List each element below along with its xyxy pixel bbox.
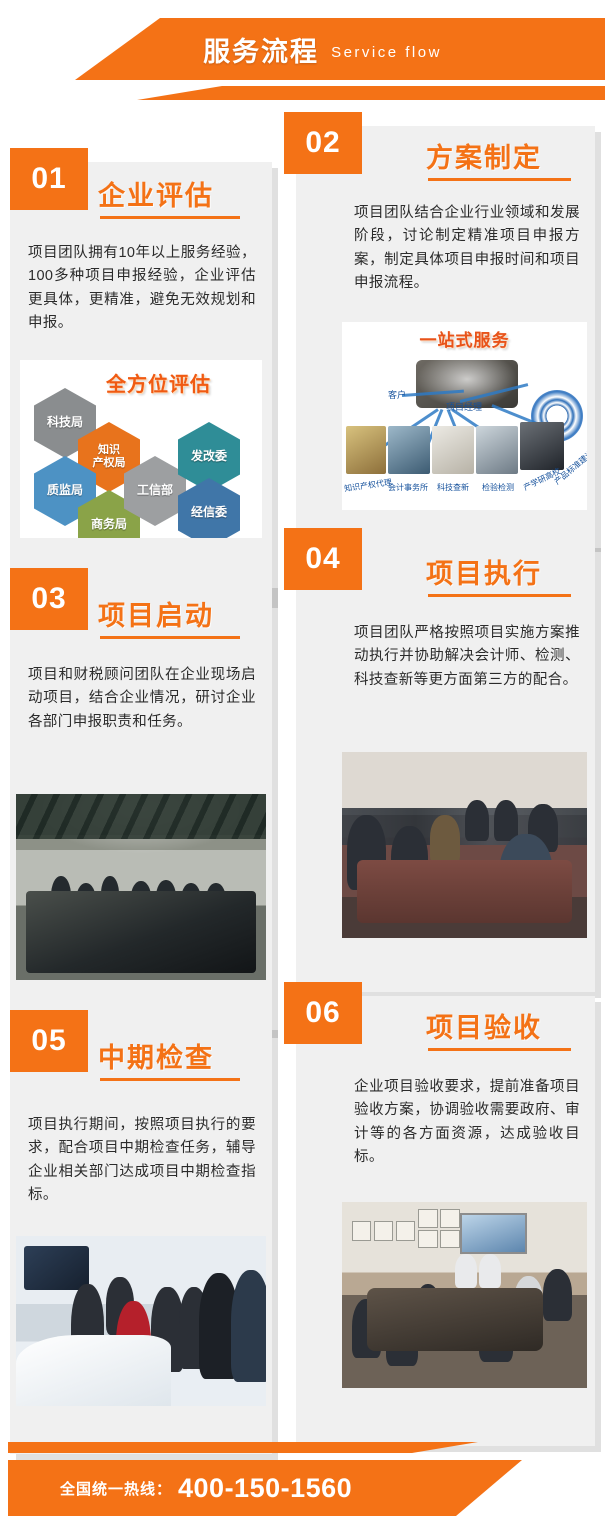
photo-big-conference — [342, 1202, 587, 1388]
title-underline — [428, 594, 571, 597]
card-title: 中期检查 — [98, 1036, 214, 1075]
page-subtitle: Service flow — [331, 44, 442, 61]
photo-figures — [16, 1236, 266, 1406]
card-description: 企业项目验收要求，提前准备项目验收方案，协调验收需要政府、审计等的各方面资源，达… — [354, 1076, 580, 1170]
process-card-06[interactable]: 06 项目验收 企业项目验收要求，提前准备项目验收方案，协调验收需要政府、审计等… — [296, 996, 595, 1446]
card-number-badge: 05 — [10, 1010, 88, 1072]
oss-label-ip-agency: 知识产权代理 — [343, 477, 392, 495]
card-description: 项目团队结合企业行业领域和发展阶段，讨论制定精准项目申报方案，制定具体项目申报时… — [354, 202, 580, 296]
hex-node-label: 质监局 — [47, 484, 83, 498]
oss-center-label: 项目经理 — [446, 400, 482, 413]
hex-node-label: 科技局 — [47, 416, 83, 430]
hotline-group: 全国统一热线： 400-150-1560 — [8, 1460, 605, 1516]
process-card-04[interactable]: 04 项目执行 项目团队严格按照项目实施方案推动执行并协助解决会计师、检测、科技… — [296, 542, 595, 992]
all-round-assessment-diagram: 全方位评估 科技局 知识 产权局 质监局 商务局 工信部 发改委 经信委 — [20, 360, 262, 538]
photo-figures — [342, 752, 587, 938]
hex-node-label: 知识 产权局 — [93, 444, 126, 469]
photo-conference-room — [16, 794, 266, 980]
oss-thumb — [476, 426, 518, 474]
page-footer: 全国统一热线： 400-150-1560 — [0, 1420, 605, 1538]
hotline-phone[interactable]: 400-150-1560 — [178, 1473, 352, 1504]
oss-thumb — [432, 426, 474, 474]
card-title: 方案制定 — [426, 136, 542, 175]
oss-label-accounting: 会计事务所 — [388, 482, 428, 493]
title-underline — [428, 178, 571, 181]
header-accent-stripe — [0, 86, 605, 100]
process-card-03[interactable]: 03 项目启动 项目和财税顾问团队在企业现场启动项目，结合企业情况，研讨企业各部… — [10, 582, 272, 1032]
photo-figures — [342, 1202, 587, 1388]
oss-title: 一站式服务 — [342, 326, 587, 351]
title-underline — [100, 216, 240, 219]
oss-thumb — [346, 426, 386, 474]
card-description: 项目团队严格按照项目实施方案推动执行并协助解决会计师、检测、科技查新等更方面第三… — [354, 622, 580, 692]
oss-client-label: 客户 — [388, 388, 406, 401]
page-title: 服务流程 — [203, 30, 319, 69]
oss-label-novelty-search: 科技查新 — [437, 482, 469, 493]
footer-accent-stripe — [8, 1442, 605, 1453]
oss-thumb — [520, 422, 564, 470]
photo-figures — [16, 794, 266, 980]
hex-node-label: 工信部 — [137, 484, 173, 498]
process-card-05[interactable]: 05 中期检查 项目执行期间，按照项目执行的要求，配合项目中期检查任务，辅导企业… — [10, 1024, 272, 1454]
hex-node-label: 发改委 — [191, 450, 227, 464]
hex-node-jingxin: 经信委 — [178, 478, 240, 538]
photo-showroom-visit — [16, 1236, 266, 1406]
card-description: 项目团队拥有10年以上服务经验，100多种项目申报经验，企业评估更具体，更精准，… — [28, 242, 256, 336]
title-underline — [100, 636, 240, 639]
header-title-group: 服务流程 Service flow — [0, 18, 605, 80]
card-title: 项目启动 — [98, 594, 214, 633]
hex-diagram-title: 全方位评估 — [106, 368, 211, 397]
one-stop-service-diagram: 一站式服务 客户 项目经理 知识产权代理 会计事务所 科技查新 检验检测 产学研… — [342, 322, 587, 510]
hotline-label: 全国统一热线： — [60, 1478, 172, 1499]
card-number-badge: 03 — [10, 568, 88, 630]
hex-node-label: 商务局 — [91, 518, 127, 532]
card-description: 项目执行期间，按照项目执行的要求，配合项目中期检查任务，辅导企业相关部门达成项目… — [28, 1114, 256, 1208]
process-card-01[interactable]: 01 企业评估 项目团队拥有10年以上服务经验，100多种项目申报经验，企业评估… — [10, 162, 272, 602]
oss-thumb — [388, 426, 430, 474]
card-number-badge: 01 — [10, 148, 88, 210]
card-number-badge: 04 — [284, 528, 362, 590]
card-title: 项目验收 — [426, 1006, 542, 1045]
card-title: 项目执行 — [426, 552, 542, 591]
card-title: 企业评估 — [98, 174, 214, 213]
title-underline — [100, 1078, 240, 1081]
hex-node-label: 经信委 — [191, 506, 227, 520]
photo-laptops-meeting — [342, 752, 587, 938]
card-number-badge: 06 — [284, 982, 362, 1044]
card-number-badge: 02 — [284, 112, 362, 174]
card-description: 项目和财税顾问团队在企业现场启动项目，结合企业情况，研讨企业各部门申报职责和任务… — [28, 664, 256, 734]
oss-label-inspection: 检验检测 — [482, 482, 514, 493]
process-card-02[interactable]: 02 方案制定 项目团队结合企业行业领域和发展阶段，讨论制定精准项目申报方案，制… — [296, 126, 595, 546]
title-underline — [428, 1048, 571, 1051]
